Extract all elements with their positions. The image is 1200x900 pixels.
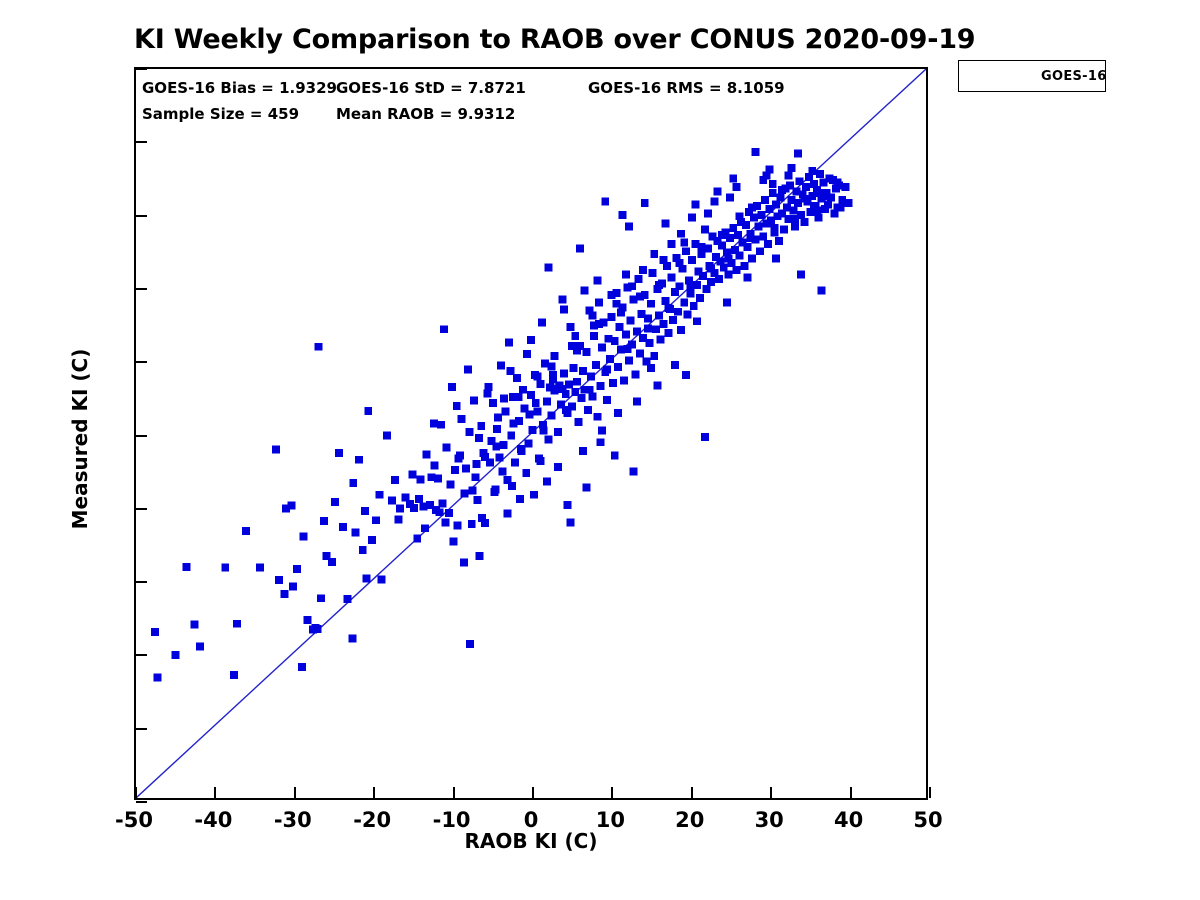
data-point <box>497 362 505 370</box>
data-point <box>682 247 690 255</box>
data-point <box>699 272 707 280</box>
data-point <box>816 189 824 197</box>
data-point <box>543 478 551 486</box>
data-point <box>693 317 701 325</box>
data-point <box>785 171 793 179</box>
data-point <box>669 316 677 324</box>
data-point <box>508 482 516 490</box>
data-point <box>475 434 483 442</box>
data-point <box>634 275 642 283</box>
data-point <box>646 339 654 347</box>
data-point <box>529 426 537 434</box>
data-point <box>661 220 669 228</box>
data-point <box>810 205 818 213</box>
data-point <box>671 361 679 369</box>
data-point <box>691 201 699 209</box>
data-point <box>570 364 578 372</box>
data-point <box>614 363 622 371</box>
data-point <box>494 413 502 421</box>
data-point <box>652 325 660 333</box>
data-point <box>196 642 204 650</box>
data-point <box>481 453 489 461</box>
x-tick-label: 10 <box>570 808 650 832</box>
data-point <box>554 463 562 471</box>
data-point <box>661 297 669 305</box>
data-point <box>464 365 472 373</box>
data-point <box>383 432 391 440</box>
data-point <box>300 532 308 540</box>
x-tick-label: -20 <box>332 808 412 832</box>
data-point <box>660 320 668 328</box>
data-point <box>431 462 439 470</box>
data-point <box>834 179 842 187</box>
data-point <box>630 467 638 475</box>
data-point <box>454 521 462 529</box>
data-point <box>723 298 731 306</box>
data-point <box>472 473 480 481</box>
data-point <box>729 224 737 232</box>
data-point <box>616 323 624 331</box>
data-point <box>758 211 766 219</box>
data-point <box>818 287 826 295</box>
data-point <box>298 663 306 671</box>
data-point <box>554 428 562 436</box>
data-point <box>584 406 592 414</box>
data-point <box>573 346 581 354</box>
y-tick <box>136 581 147 583</box>
data-point <box>748 255 756 263</box>
x-tick-label: -50 <box>94 808 174 832</box>
data-point <box>560 306 568 314</box>
data-point <box>533 408 541 416</box>
data-point <box>465 428 473 436</box>
data-point <box>522 469 530 477</box>
data-point <box>841 183 849 191</box>
data-point <box>477 422 485 430</box>
data-point <box>764 240 772 248</box>
data-point <box>527 391 535 399</box>
data-point <box>636 292 644 300</box>
data-point <box>748 204 756 212</box>
data-point <box>644 314 652 322</box>
data-point <box>442 443 450 451</box>
data-point <box>582 483 590 491</box>
data-point <box>715 275 723 283</box>
data-point <box>451 466 459 474</box>
x-tick-label: -40 <box>173 808 253 832</box>
data-point <box>421 524 429 532</box>
data-point <box>549 371 557 379</box>
data-point <box>460 559 468 567</box>
data-point <box>361 507 369 515</box>
data-point <box>470 397 478 405</box>
scatter-canvas <box>136 69 926 798</box>
data-point <box>845 199 853 207</box>
x-tick <box>929 787 931 798</box>
data-point <box>538 319 546 327</box>
data-point <box>734 231 742 239</box>
scatter-series-goes-16 <box>151 148 853 682</box>
data-point <box>628 282 636 290</box>
data-point <box>755 222 763 230</box>
x-tick <box>135 787 137 798</box>
data-point <box>493 425 501 433</box>
data-point <box>627 317 635 325</box>
data-point <box>660 256 668 264</box>
data-point <box>732 266 740 274</box>
data-point <box>619 211 627 219</box>
data-point <box>272 446 280 454</box>
data-point <box>612 300 620 308</box>
data-point <box>473 460 481 468</box>
data-point <box>688 256 696 264</box>
data-point <box>761 196 769 204</box>
data-point <box>633 397 641 405</box>
data-point <box>363 575 371 583</box>
data-point <box>720 263 728 271</box>
data-point <box>726 193 734 201</box>
data-point <box>668 240 676 248</box>
data-point <box>617 309 625 317</box>
x-tick-label: 40 <box>809 808 889 832</box>
data-point <box>578 394 586 402</box>
data-point <box>348 634 356 642</box>
data-point <box>288 502 296 510</box>
data-point <box>608 313 616 321</box>
data-point <box>725 255 733 263</box>
data-point <box>256 564 264 572</box>
data-point <box>707 265 715 273</box>
data-point <box>747 234 755 242</box>
data-point <box>368 536 376 544</box>
data-point <box>434 475 442 483</box>
data-point <box>751 148 759 156</box>
x-tick-label: 30 <box>729 808 809 832</box>
data-point <box>598 343 606 351</box>
data-point <box>378 575 386 583</box>
legend-label-goes-16: GOES-16 <box>1041 69 1107 84</box>
data-point <box>548 411 556 419</box>
data-point <box>537 380 545 388</box>
data-point <box>622 330 630 338</box>
data-point <box>388 497 396 505</box>
data-point <box>242 527 250 535</box>
data-point <box>623 345 631 353</box>
data-point <box>636 349 644 357</box>
data-point <box>815 214 823 222</box>
data-point <box>416 475 424 483</box>
data-point <box>696 294 704 302</box>
data-point <box>469 486 477 494</box>
data-point <box>442 518 450 526</box>
data-point <box>439 500 447 508</box>
y-tick <box>136 801 147 803</box>
data-point <box>725 271 733 279</box>
data-point <box>597 382 605 390</box>
data-point <box>440 325 448 333</box>
data-point <box>639 266 647 274</box>
data-point <box>567 323 575 331</box>
data-point <box>668 274 676 282</box>
data-point <box>704 209 712 217</box>
data-point <box>489 399 497 407</box>
x-tick-label: 0 <box>491 808 571 832</box>
data-point <box>701 225 709 233</box>
data-point <box>620 376 628 384</box>
data-point <box>778 186 786 194</box>
data-point <box>560 370 568 378</box>
data-point <box>502 408 510 416</box>
data-point <box>683 311 691 319</box>
data-point <box>595 298 603 306</box>
x-tick-label: -10 <box>412 808 492 832</box>
data-point <box>641 199 649 207</box>
data-point <box>777 193 785 201</box>
stat-bias: GOES-16 Bias = 1.9329 <box>142 79 337 97</box>
data-point <box>320 517 328 525</box>
y-tick <box>136 141 147 143</box>
data-point <box>729 174 737 182</box>
data-point <box>576 244 584 252</box>
data-point <box>478 514 486 522</box>
data-point <box>762 171 770 179</box>
y-tick <box>136 435 147 437</box>
data-point <box>788 164 796 172</box>
data-point <box>446 481 454 489</box>
data-point <box>153 674 161 682</box>
x-tick <box>294 787 296 798</box>
data-point <box>409 470 417 478</box>
data-point <box>592 361 600 369</box>
data-point <box>772 255 780 263</box>
data-point <box>647 300 655 308</box>
data-point <box>593 276 601 284</box>
data-point <box>499 467 507 475</box>
y-axis-title: Measured KI (C) <box>68 69 92 809</box>
data-point <box>687 284 695 292</box>
data-point <box>573 378 581 386</box>
data-point <box>514 393 522 401</box>
data-point <box>510 419 518 427</box>
data-point <box>702 285 710 293</box>
data-point <box>677 230 685 238</box>
data-point <box>331 498 339 506</box>
data-point <box>503 510 511 518</box>
data-point <box>551 352 559 360</box>
data-point <box>587 373 595 381</box>
data-point <box>462 465 470 473</box>
data-point <box>511 459 519 467</box>
data-point <box>664 329 672 337</box>
data-point <box>800 218 808 226</box>
data-point <box>775 237 783 245</box>
data-point <box>430 419 438 427</box>
data-point <box>625 222 633 230</box>
stat-std: GOES-16 StD = 7.8721 <box>336 79 526 97</box>
data-point <box>680 298 688 306</box>
data-point <box>800 195 808 203</box>
data-point <box>750 214 758 222</box>
data-point <box>525 411 533 419</box>
x-axis-title: RAOB KI (C) <box>134 829 928 853</box>
data-point <box>581 287 589 295</box>
data-point <box>513 374 521 382</box>
data-point <box>579 447 587 455</box>
data-point <box>151 628 159 636</box>
plot-area <box>134 67 928 800</box>
data-point <box>190 621 198 629</box>
data-point <box>770 224 778 232</box>
y-tick <box>136 508 147 510</box>
y-tick <box>136 215 147 217</box>
data-point <box>466 640 474 648</box>
y-tick <box>136 654 147 656</box>
y-tick <box>136 728 147 730</box>
x-tick <box>611 787 613 798</box>
data-point <box>450 537 458 545</box>
data-point <box>349 479 357 487</box>
data-point <box>544 263 552 271</box>
data-point <box>676 282 684 290</box>
data-point <box>435 508 443 516</box>
data-point <box>606 355 614 363</box>
x-tick <box>532 787 534 798</box>
data-point <box>543 397 551 405</box>
data-point <box>647 364 655 372</box>
x-tick <box>453 787 455 798</box>
data-point <box>601 198 609 206</box>
data-point <box>183 563 191 571</box>
data-point <box>574 418 582 426</box>
data-point <box>499 441 507 449</box>
data-point <box>794 150 802 158</box>
data-point <box>579 367 587 375</box>
x-tick-label: -30 <box>253 808 333 832</box>
page-title: KI Weekly Comparison to RAOB over CONUS … <box>134 24 928 55</box>
data-point <box>595 320 603 328</box>
data-point <box>680 239 688 247</box>
data-point <box>676 259 684 267</box>
y-tick <box>136 68 147 70</box>
data-point <box>352 529 360 537</box>
data-point <box>315 343 323 351</box>
data-point <box>664 304 672 312</box>
data-point <box>303 616 311 624</box>
data-point <box>589 311 597 319</box>
data-point <box>563 501 571 509</box>
data-point <box>649 269 657 277</box>
y-tick <box>136 288 147 290</box>
data-point <box>495 454 503 462</box>
data-point <box>544 435 552 443</box>
data-point <box>644 325 652 333</box>
x-tick <box>770 787 772 798</box>
data-point <box>537 457 545 465</box>
data-point <box>233 620 241 628</box>
data-point <box>657 335 665 343</box>
data-point <box>653 381 661 389</box>
data-point <box>622 271 630 279</box>
data-point <box>688 214 696 222</box>
data-point <box>454 454 462 462</box>
data-point <box>375 491 383 499</box>
data-point <box>448 383 456 391</box>
data-point <box>603 365 611 373</box>
data-point <box>582 348 590 356</box>
data-point <box>759 233 767 241</box>
data-point <box>743 274 751 282</box>
data-point <box>289 583 297 591</box>
data-point <box>837 204 845 212</box>
data-point <box>372 516 380 524</box>
data-point <box>674 308 682 316</box>
data-point <box>698 243 706 251</box>
data-point <box>780 225 788 233</box>
data-point <box>525 440 533 448</box>
data-point <box>631 370 639 378</box>
data-point <box>540 427 548 435</box>
data-point <box>415 495 423 503</box>
data-point <box>172 651 180 659</box>
data-point <box>516 495 524 503</box>
data-point <box>690 302 698 310</box>
data-point <box>650 352 658 360</box>
data-point <box>505 338 513 346</box>
data-point <box>491 488 499 496</box>
data-point <box>726 234 734 242</box>
data-point <box>275 576 283 584</box>
data-point <box>701 433 709 441</box>
data-point <box>742 221 750 229</box>
data-point <box>593 413 601 421</box>
data-point <box>802 183 810 191</box>
x-tick <box>373 787 375 798</box>
data-point <box>461 489 469 497</box>
data-point <box>789 206 797 214</box>
data-point <box>791 215 799 223</box>
x-tick-label: 50 <box>888 808 968 832</box>
data-point <box>710 198 718 206</box>
data-point <box>230 671 238 679</box>
data-point <box>824 201 832 209</box>
x-tick-label: 20 <box>650 808 730 832</box>
data-point <box>772 201 780 209</box>
data-point <box>559 295 567 303</box>
data-point <box>707 278 715 286</box>
data-point <box>655 311 663 319</box>
data-point <box>609 379 617 387</box>
data-point <box>769 189 777 197</box>
data-point <box>468 520 476 528</box>
stat-sample-size: Sample Size = 459 <box>142 105 299 123</box>
data-point <box>608 291 616 299</box>
data-point <box>437 421 445 429</box>
data-point <box>562 406 570 414</box>
data-point <box>453 402 461 410</box>
data-point <box>335 449 343 457</box>
data-point <box>314 625 322 633</box>
data-point <box>518 447 526 455</box>
data-point <box>364 407 372 415</box>
legend[interactable]: GOES-16 <box>958 60 1106 92</box>
data-point <box>344 595 352 603</box>
chart-page: KI Weekly Comparison to RAOB over CONUS … <box>0 0 1200 900</box>
data-point <box>527 336 535 344</box>
data-point <box>590 332 598 340</box>
data-point <box>476 552 484 560</box>
stat-rms: GOES-16 RMS = 8.1059 <box>588 79 785 97</box>
data-point <box>797 271 805 279</box>
